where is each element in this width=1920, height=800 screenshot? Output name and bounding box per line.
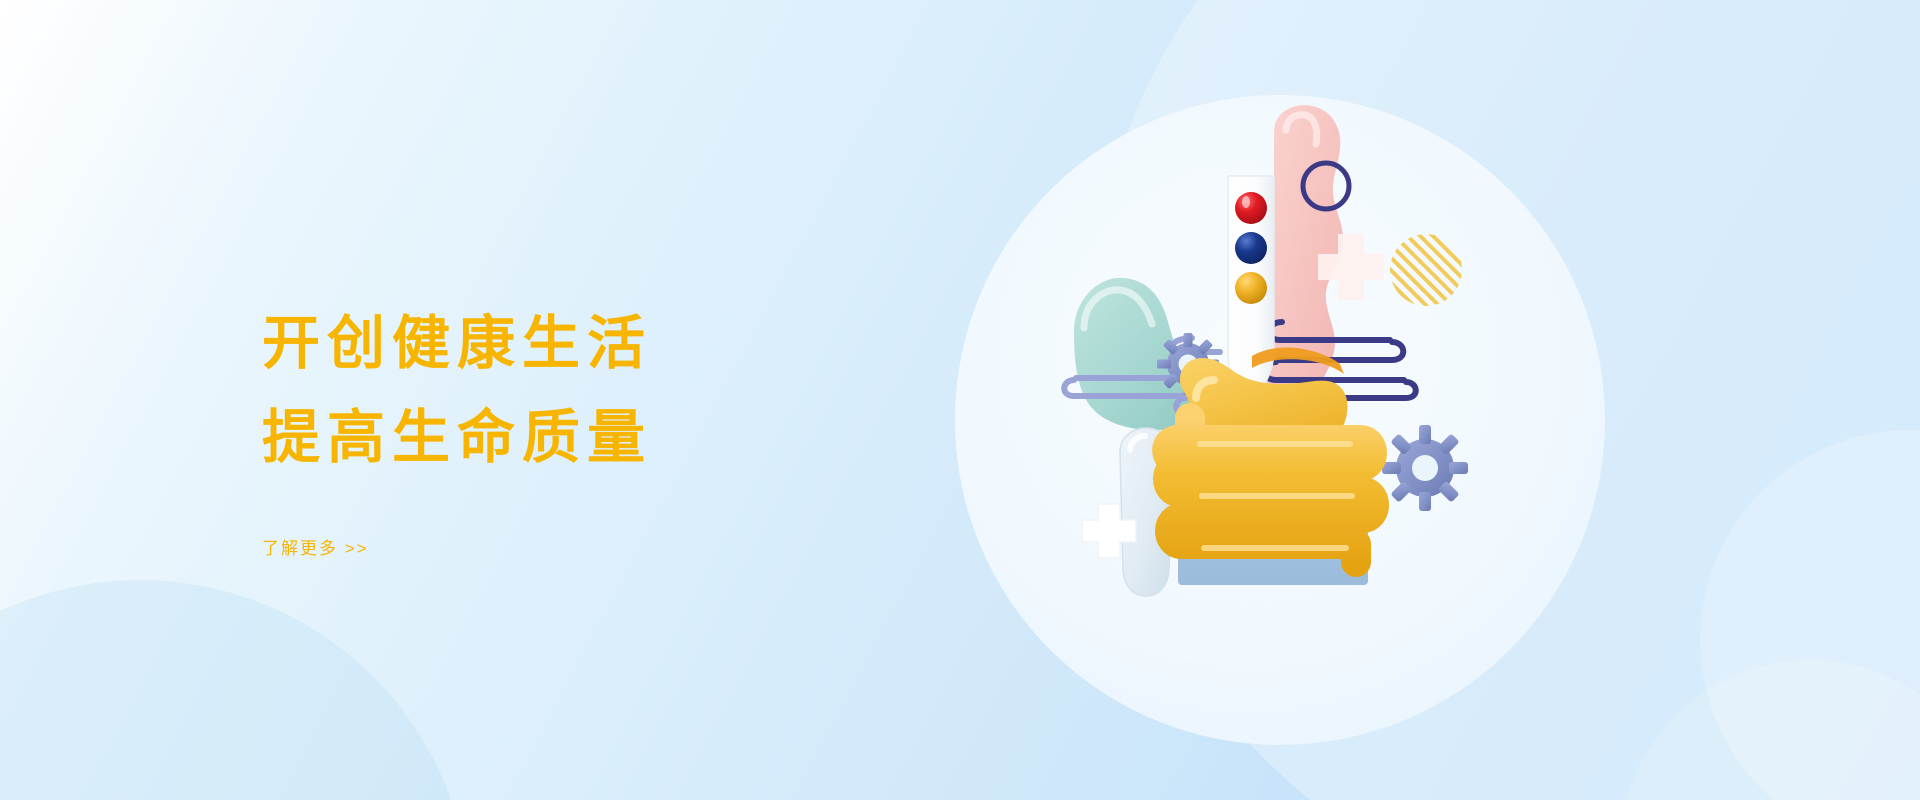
striped-circle-icon	[1386, 230, 1466, 310]
headline-line-2: 提高生命质量	[262, 394, 902, 482]
learn-more-link[interactable]: 了解更多 >>	[262, 534, 369, 559]
dot-navy	[1235, 232, 1267, 264]
intestine-shape	[1167, 418, 1374, 562]
headline-line-1: 开创健康生活	[262, 300, 902, 388]
health-banner: 开创健康生活 提高生命质量 了解更多 >>	[0, 0, 1920, 800]
digestive-system-illustration	[1060, 100, 1530, 720]
background-circle-right-lower	[1620, 660, 1920, 800]
dot-red	[1235, 192, 1267, 224]
background-circle-bottom-left	[0, 580, 470, 800]
dot-yellow	[1235, 272, 1267, 304]
gear-large-icon	[1382, 425, 1468, 511]
banner-copy: 开创健康生活 提高生命质量 了解更多 >>	[262, 300, 902, 559]
background-circle-right-upper	[1700, 430, 1920, 800]
